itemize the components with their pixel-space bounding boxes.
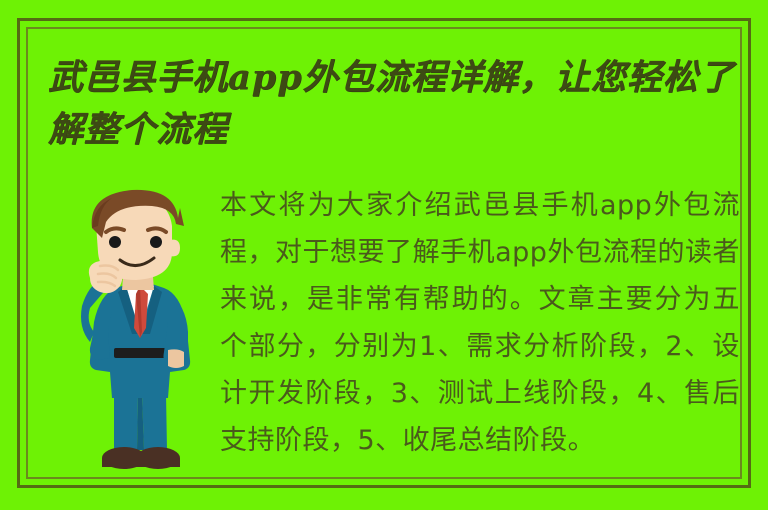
businessman-illustration xyxy=(56,182,216,472)
page-title: 武邑县手机app外包流程详解，让您轻松了解整个流程 xyxy=(48,52,738,156)
poster-canvas: 武邑县手机app外包流程详解，让您轻松了解整个流程 xyxy=(0,0,768,510)
article-body-text: 本文将为大家介绍武邑县手机app外包流程，对于想要了解手机app外包流程的读者来… xyxy=(220,182,740,464)
